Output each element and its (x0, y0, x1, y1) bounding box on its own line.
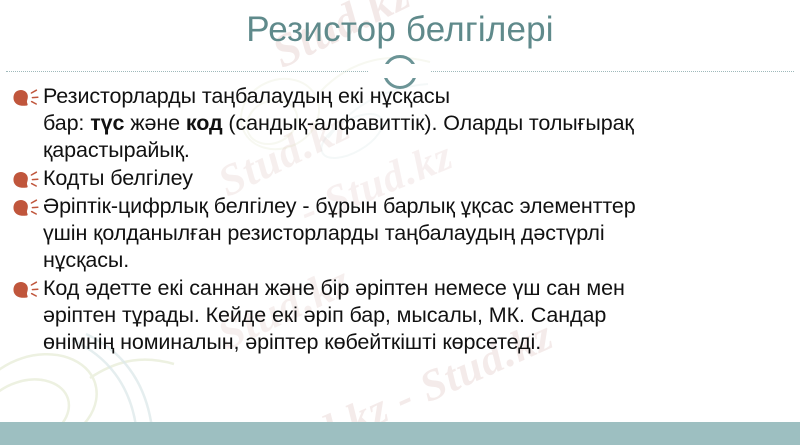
bullet-text-run: үшін қолданылған резисторларды таңбалауд… (43, 221, 605, 245)
bullet-text-run: Код әдетте екі саннан және бір әріптен н… (43, 276, 625, 300)
bullet-text-run: қарастырайық. (43, 138, 190, 162)
presentation-slide: Stud.kz Stud.kz - Stud.kz Stud.kz Stud.k… (0, 0, 800, 445)
speaking-head-bullet-icon (13, 280, 39, 299)
bullet-text-run: Әріптік-цифрлық белгілеу - бұрын барлық … (43, 194, 636, 218)
slide-body: Резисторларды таңбалаудың екі нұсқасыбар… (12, 83, 794, 357)
footer-bar (0, 422, 800, 445)
bullet-text-run: Кодты белгілеу (43, 166, 193, 190)
bullet-text-run: және (124, 111, 186, 135)
bullet-text: Әріптік-цифрлық белгілеу - бұрын барлық … (43, 194, 636, 272)
bullet-text-run: Резисторларды таңбалаудың екі нұсқасы (43, 84, 450, 108)
bullet-item: Резисторларды таңбалаудың екі нұсқасыбар… (12, 83, 794, 164)
bullet-text-run: (сандық-алфавиттік). Оларды толығырақ (223, 111, 634, 135)
page-title: Резистор белгілері (0, 9, 800, 51)
bullet-text: Код әдетте екі саннан және бір әріптен н… (43, 276, 625, 354)
ornament-mask (369, 64, 431, 78)
bullet-text-emphasis: түс (90, 111, 124, 135)
bullet-item: Код әдетте екі саннан және бір әріптен н… (12, 275, 794, 356)
bullet-item: Кодты белгілеу (12, 165, 794, 192)
bullet-item: Әріптік-цифрлық белгілеу - бұрын барлық … (12, 193, 794, 274)
speaking-head-bullet-icon (13, 170, 39, 189)
bullet-text: Резисторларды таңбалаудың екі нұсқасыбар… (43, 84, 634, 162)
bullet-text: Кодты белгілеу (43, 166, 193, 190)
bullet-text-run: нұсқасы. (43, 248, 129, 272)
bullet-text-run: бар: (43, 111, 90, 135)
bullet-text-run: әріптен тұрады. Кейде екі әріп бар, мыса… (43, 303, 606, 327)
speaking-head-bullet-icon (13, 88, 39, 107)
bullet-text-emphasis: код (186, 111, 223, 135)
speaking-head-bullet-icon (13, 198, 39, 217)
bullet-text-run: өнімнің номиналын, әріптер көбейткішті к… (43, 330, 541, 354)
